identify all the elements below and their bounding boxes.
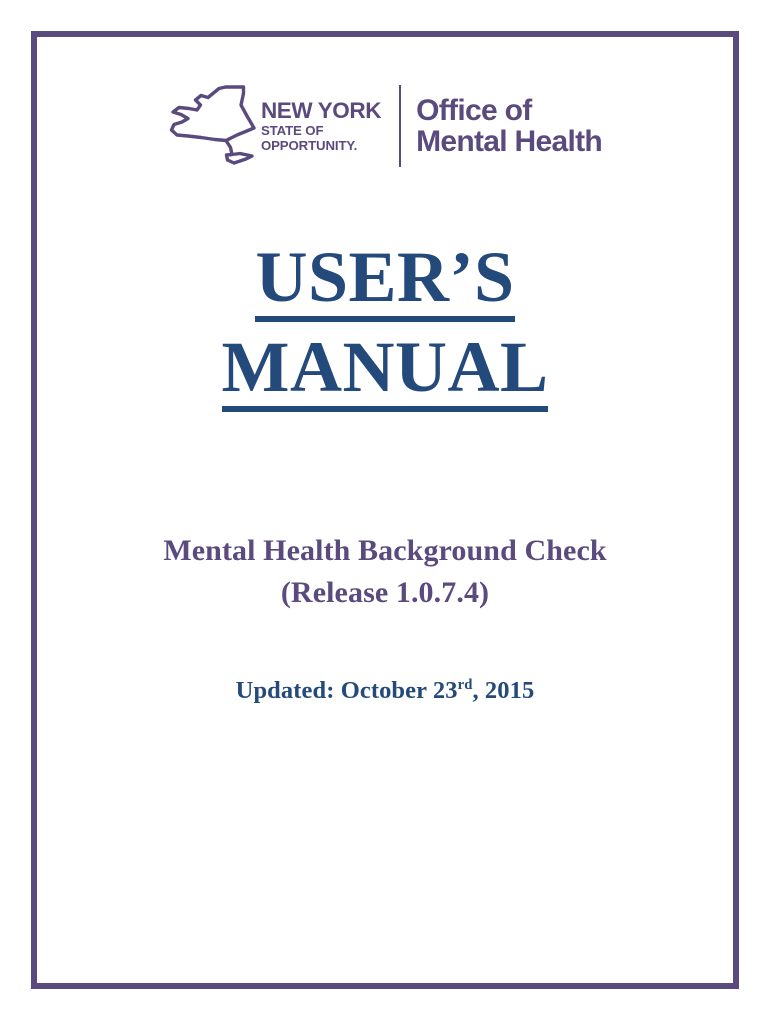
new-york-state-outline-icon (168, 83, 256, 169)
logo-vertical-divider (399, 85, 401, 167)
ny-wordmark-line-1: NEW YORK (261, 100, 381, 123)
updated-date-prefix: Updated: October 23 (236, 677, 458, 704)
new-york-state-logo: NEW YORK STATE OF OPPORTUNITY. (168, 83, 381, 169)
page-border-frame: NEW YORK STATE OF OPPORTUNITY. Office of… (31, 31, 739, 989)
new-york-wordmark: NEW YORK STATE OF OPPORTUNITY. (261, 98, 381, 153)
updated-date-suffix: , 2015 (472, 677, 534, 704)
office-of-mental-health-wordmark: Office of Mental Health (416, 95, 602, 157)
agency-name-line-1: Office of (416, 95, 602, 126)
updated-date-block: Updated: October 23rd, 2015 (37, 677, 733, 705)
subtitle-line-1: Mental Health Background Check (37, 530, 733, 572)
document-title: USER’S MANUAL (37, 243, 733, 423)
title-line-1: USER’S (255, 243, 514, 322)
updated-date-ordinal: rd (458, 677, 473, 693)
document-page: NEW YORK STATE OF OPPORTUNITY. Office of… (0, 0, 770, 1024)
subtitle-release-version: (Release 1.0.7.4) (37, 572, 733, 614)
ny-wordmark-line-2: STATE OF (261, 123, 381, 138)
updated-date-line: Updated: October 23rd, 2015 (37, 677, 733, 705)
agency-name-line-2: Mental Health (416, 126, 602, 157)
document-subtitle: Mental Health Background Check (Release … (37, 530, 733, 613)
nyomh-logo-lockup: NEW YORK STATE OF OPPORTUNITY. Office of… (37, 66, 733, 186)
title-line-1-wrap: USER’S (37, 243, 733, 333)
title-line-2: MANUAL (222, 333, 549, 412)
ny-wordmark-line-3: OPPORTUNITY. (261, 138, 381, 153)
title-line-2-wrap: MANUAL (37, 333, 733, 423)
